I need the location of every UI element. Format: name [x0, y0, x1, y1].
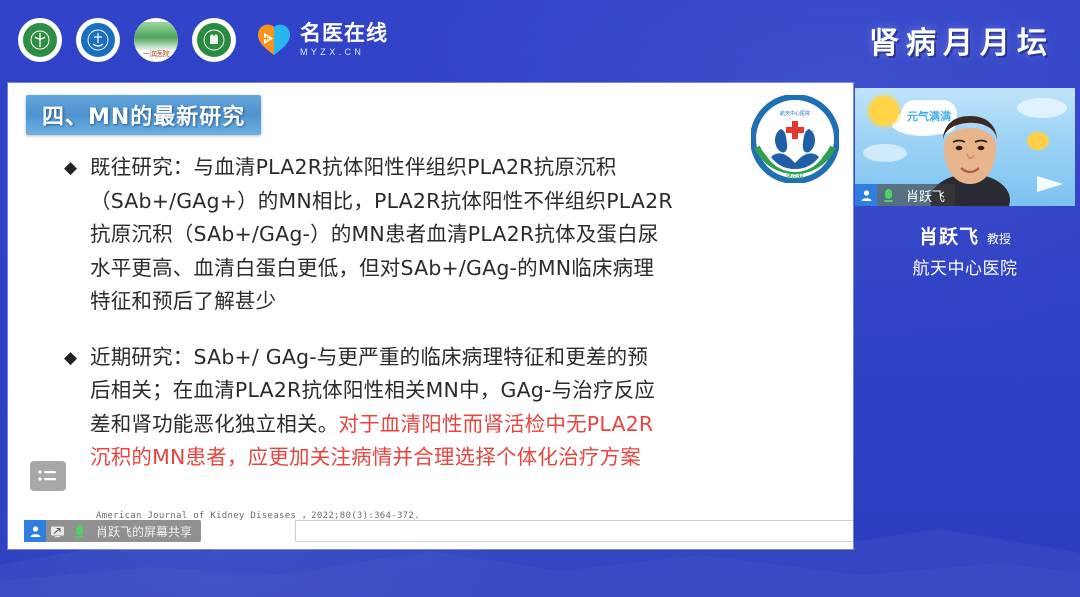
- line: 近期研究：SAb+/ GAg-与更严重的临床病理特征和更差的预: [90, 341, 655, 375]
- partner-logo-strip: 一滨医院 名医在线 MYZX.CN: [18, 18, 388, 62]
- play-heart-icon: [256, 24, 292, 56]
- list-menu-icon[interactable]: [30, 461, 66, 491]
- hospital-emblem-3-icon: 一滨医院: [134, 18, 178, 62]
- speaker-name-line: 肖跃飞教授: [855, 222, 1075, 249]
- person-icon: [855, 184, 877, 206]
- hospital-emblem-1-icon: [18, 18, 62, 62]
- hospital-emblem-4-icon: [192, 18, 236, 62]
- share-status-text: 肖跃飞的屏幕共享: [96, 523, 192, 540]
- slide-title: 四、MN的最新研究: [42, 99, 245, 131]
- platform-name-en: MYZX.CN: [300, 48, 388, 57]
- speaker-caption: 肖跃飞教授 航天中心医院: [855, 222, 1075, 279]
- participant-name: 肖跃飞: [906, 186, 945, 205]
- cloud-icon: [1017, 98, 1067, 118]
- line: 既往研究：与血清PLA2R抗体阳性伴组织PLA2R抗原沉积: [90, 151, 673, 185]
- speaker-organization: 航天中心医院: [855, 254, 1075, 279]
- line: 抗原沉积（SAb+/GAg-）的MN患者血清PLA2R抗体及蛋白尿: [90, 218, 673, 252]
- microphone-icon[interactable]: [877, 184, 899, 206]
- microphone-icon: [68, 520, 90, 542]
- paragraph-recent-research-text: 近期研究：SAb+/ GAg-与更严重的临床病理特征和更差的预 后相关；在血清P…: [90, 341, 655, 475]
- participant-name-bar: 肖跃飞: [855, 184, 955, 206]
- bird-icon: [1027, 132, 1049, 150]
- line-segment-highlight: 对于血清阳性而肾活检中无PLA2R: [338, 412, 653, 436]
- shared-screen-region[interactable]: 四、MN的最新研究 航天中心医院 肾内科 ◆ 既往研究：与血清PLA2R抗体阳性…: [8, 83, 853, 549]
- paper-plane-icon: [1037, 176, 1063, 192]
- bullet-diamond-icon: ◆: [64, 341, 90, 475]
- paragraph-past-research: ◆ 既往研究：与血清PLA2R抗体阳性伴组织PLA2R抗原沉积 （SAb+/GA…: [64, 151, 831, 319]
- person-icon: [24, 520, 46, 542]
- line: 特征和预后了解甚少: [90, 285, 673, 319]
- paragraph-recent-research: ◆ 近期研究：SAb+/ GAg-与更严重的临床病理特征和更差的预 后相关；在血…: [64, 341, 831, 475]
- event-brand-title: 肾病月月坛: [869, 18, 1054, 62]
- top-header-bar: 一滨医院 名医在线 MYZX.CN 肾病月月: [0, 0, 1080, 80]
- platform-name-zh: 名医在线: [300, 23, 388, 44]
- svg-text:航天中心医院: 航天中心医院: [780, 110, 810, 117]
- paragraph-past-research-text: 既往研究：与血清PLA2R抗体阳性伴组织PLA2R抗原沉积 （SAb+/GAg+…: [90, 151, 673, 319]
- slide-title-band: 四、MN的最新研究: [26, 95, 261, 135]
- cloud-icon: [863, 144, 907, 162]
- screen-share-icon: [46, 520, 68, 542]
- line-segment-black: 差和肾功能恶化独立相关。: [90, 412, 338, 436]
- line-highlight: 沉积的MN患者，应更加关注病情并合理选择个体化治疗方案: [90, 441, 655, 475]
- hospital-emblem-2-icon: [76, 18, 120, 62]
- slide-body-text: ◆ 既往研究：与血清PLA2R抗体阳性伴组织PLA2R抗原沉积 （SAb+/GA…: [64, 151, 831, 497]
- platform-logo: 名医在线 MYZX.CN: [256, 23, 388, 57]
- bullet-diamond-icon: ◆: [64, 151, 90, 319]
- speaker-rank: 教授: [987, 232, 1011, 246]
- sun-icon: [869, 96, 899, 126]
- line: 后相关；在血清PLA2R抗体阳性相关MN中，GAg-与治疗反应: [90, 374, 655, 408]
- line: （SAb+/GAg+）的MN相比，PLA2R抗体阳性不伴组织PLA2R: [90, 185, 673, 219]
- speaker-name: 肖跃飞: [919, 226, 979, 248]
- presentation-slide: 四、MN的最新研究 航天中心医院 肾内科 ◆ 既往研究：与血清PLA2R抗体阳性…: [8, 83, 853, 549]
- line: 水平更高、血清白蛋白更低，但对SAb+/GAg-的MN临床病理: [90, 252, 673, 286]
- share-status-pill[interactable]: 肖跃飞的屏幕共享: [24, 520, 201, 542]
- line: 差和肾功能恶化独立相关。对于血清阳性而肾活检中无PLA2R: [90, 408, 655, 442]
- participant-video-tile[interactable]: 元气满满 肖跃飞: [855, 88, 1075, 206]
- share-status-bar: [295, 520, 853, 542]
